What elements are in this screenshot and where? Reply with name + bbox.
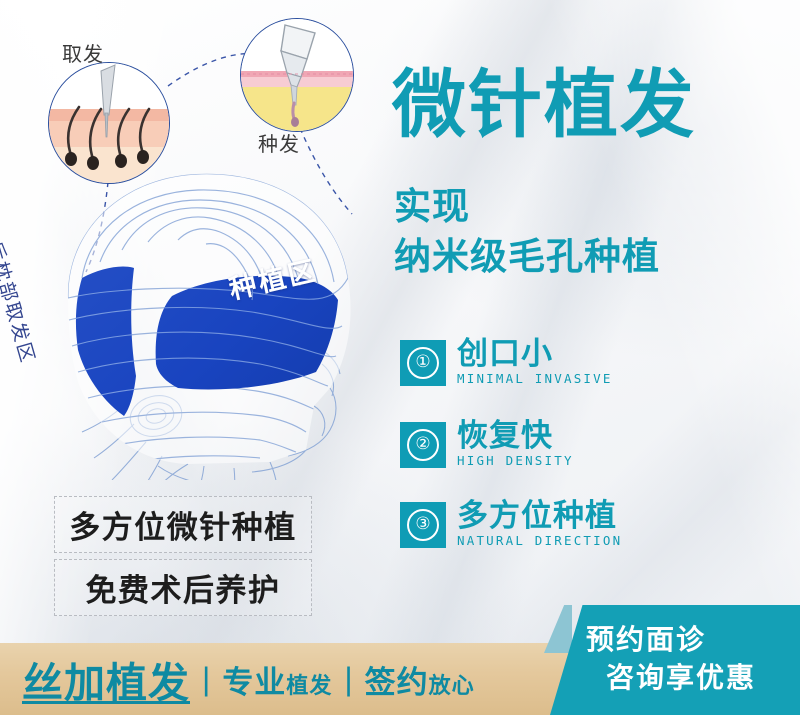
head-wireframe-diagram — [38, 150, 398, 480]
footer-slogan-2-big: 签约 — [365, 665, 429, 700]
feature-item-1: ① 创口小 MINIMAL INVASIVE — [400, 338, 613, 386]
cta-line-1: 预约面诊 — [586, 622, 800, 660]
feature-subtitle-1: MINIMAL INVASIVE — [457, 371, 613, 386]
feature-title-1: 创口小 — [457, 338, 613, 370]
footer-separator-1: | — [202, 661, 210, 698]
feature-subtitle-3: NATURAL DIRECTION — [457, 533, 622, 548]
footer-slogan-2-small: 放心 — [429, 673, 475, 698]
highlight-box-1-text: 多方位微针种植 — [69, 502, 297, 547]
footer-slogan-2: 签约放心 — [365, 657, 475, 702]
footer-separator-2: | — [344, 661, 352, 698]
feature-number-1: ① — [407, 347, 439, 379]
footer-slogan-1: 专业植发 — [222, 657, 332, 702]
feature-number-2: ② — [407, 429, 439, 461]
cta-line-2: 咨询享优惠 — [606, 660, 800, 698]
feature-badge-2: ② — [400, 422, 446, 468]
highlight-box-2: 免费术后养护 — [54, 559, 312, 616]
feature-number-3: ③ — [407, 509, 439, 541]
feature-text-2: 恢复快 HIGH DENSITY — [457, 420, 574, 468]
feature-text-3: 多方位种植 NATURAL DIRECTION — [457, 500, 622, 548]
highlight-box-1: 多方位微针种植 — [54, 496, 312, 553]
subtitle-line-2: 纳米级毛孔种植 — [394, 238, 660, 275]
page-title: 微针植发 — [392, 68, 696, 142]
follicle-extraction-illustration — [49, 63, 169, 183]
poster-root: 后枕部取发区 种植区 取发 — [0, 0, 800, 715]
extract-callout-label: 取发 — [62, 38, 104, 67]
implant-callout-label: 种发 — [258, 128, 300, 157]
subtitle-line-1: 实现 — [394, 188, 470, 225]
feature-item-2: ② 恢复快 HIGH DENSITY — [400, 420, 574, 468]
feature-title-3: 多方位种植 — [457, 500, 622, 532]
footer-slogan-1-big: 专业 — [222, 665, 286, 700]
feature-badge-3: ③ — [400, 502, 446, 548]
brand-logo-text: 丝加植发 — [22, 649, 190, 709]
highlight-box-2-text: 免费术后养护 — [86, 565, 281, 610]
feature-title-2: 恢复快 — [457, 420, 574, 452]
footer-slogan-1-small: 植发 — [286, 673, 332, 698]
feature-text-1: 创口小 MINIMAL INVASIVE — [457, 338, 613, 386]
feature-item-3: ③ 多方位种植 NATURAL DIRECTION — [400, 500, 622, 548]
feature-subtitle-2: HIGH DENSITY — [457, 453, 574, 468]
implanter-illustration — [241, 19, 353, 131]
feature-badge-1: ① — [400, 340, 446, 386]
extract-callout-circle — [48, 62, 170, 184]
implant-callout-circle — [240, 18, 354, 132]
cta-text-group[interactable]: 预约面诊 咨询享优惠 — [550, 605, 800, 715]
